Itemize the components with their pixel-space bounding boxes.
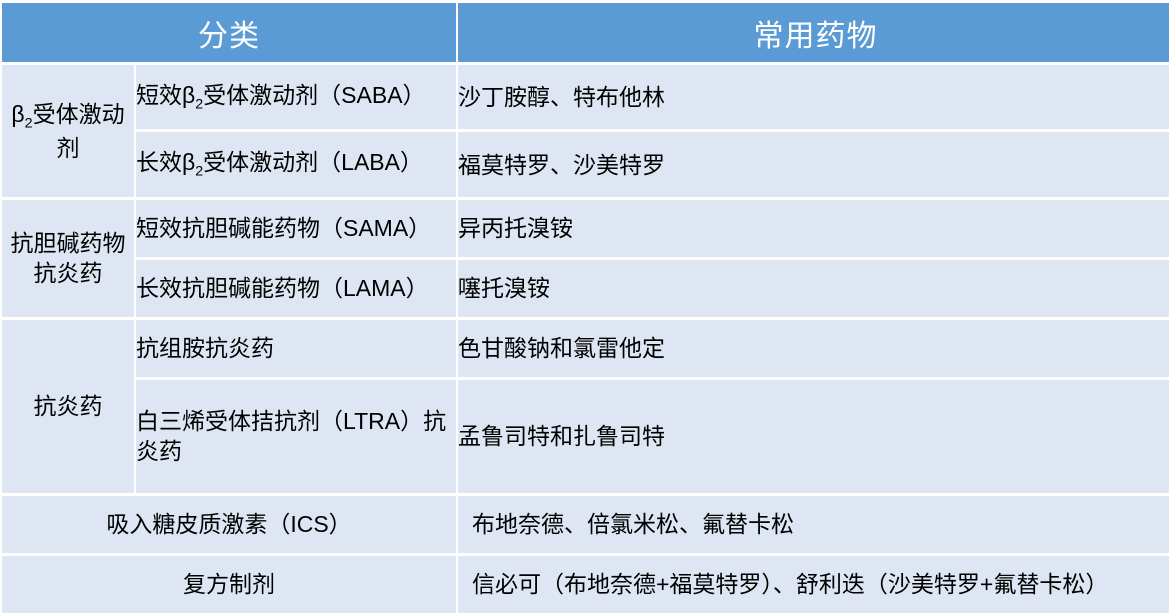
table-row: 白三烯受体拮抗剂（LTRA）抗炎药 孟鲁司特和扎鲁司特 <box>2 380 1169 494</box>
group-label-text: β <box>11 101 24 127</box>
subcategory-text-suffix: 受体激动剂（LABA） <box>203 149 423 175</box>
table-row: 吸入糖皮质激素（ICS） 布地奈德、倍氯米松、氟替卡松 <box>2 496 1169 553</box>
group-label-subscript: 2 <box>25 115 33 131</box>
drug-list-saba: 沙丁胺醇、特布他林 <box>458 65 1169 129</box>
subcategory-text: 长效β <box>136 149 195 175</box>
subcategory-subscript: 2 <box>195 164 203 180</box>
subcategory-sama: 短效抗胆碱能药物（SAMA） <box>136 200 456 257</box>
table-row: β2受体激动剂 短效β2受体激动剂（SABA） 沙丁胺醇、特布他林 <box>2 65 1169 129</box>
drug-list-combination: 信必可（布地奈德+福莫特罗）、舒利迭（沙美特罗+氟替卡松） <box>458 556 1169 613</box>
drug-list-sama: 异丙托溴铵 <box>458 200 1169 257</box>
drug-list-antihistamine: 色甘酸钠和氯雷他定 <box>458 320 1169 377</box>
table-row: 长效抗胆碱能药物（LAMA） 噻托溴铵 <box>2 260 1169 317</box>
subcategory-ltra: 白三烯受体拮抗剂（LTRA）抗炎药 <box>136 380 456 494</box>
subcategory-antihistamine: 抗组胺抗炎药 <box>136 320 456 377</box>
category-combination: 复方制剂 <box>2 556 456 613</box>
header-common-drugs: 常用药物 <box>458 3 1169 62</box>
drug-classification-table: 分类 常用药物 β2受体激动剂 短效β2受体激动剂（SABA） 沙丁胺醇、特布他… <box>0 0 1169 616</box>
drug-list-laba: 福莫特罗、沙美特罗 <box>458 132 1169 196</box>
group-label-anti-inflammatory: 抗炎药 <box>2 320 134 494</box>
table-row: 抗炎药 抗组胺抗炎药 色甘酸钠和氯雷他定 <box>2 320 1169 377</box>
table-row: 抗胆碱药物抗炎药 短效抗胆碱能药物（SAMA） 异丙托溴铵 <box>2 200 1169 257</box>
header-category: 分类 <box>2 3 456 62</box>
table-row: 长效β2受体激动剂（LABA） 福莫特罗、沙美特罗 <box>2 132 1169 196</box>
subcategory-text-suffix: 受体激动剂（SABA） <box>203 82 425 108</box>
drug-list-ltra: 孟鲁司特和扎鲁司特 <box>458 380 1169 494</box>
subcategory-text: 短效β <box>136 82 195 108</box>
drug-list-lama: 噻托溴铵 <box>458 260 1169 317</box>
subcategory-lama: 长效抗胆碱能药物（LAMA） <box>136 260 456 317</box>
subcategory-subscript: 2 <box>195 97 203 113</box>
drug-list-ics: 布地奈德、倍氯米松、氟替卡松 <box>458 496 1169 553</box>
table-header-row: 分类 常用药物 <box>2 3 1169 62</box>
subcategory-saba: 短效β2受体激动剂（SABA） <box>136 65 456 129</box>
category-ics: 吸入糖皮质激素（ICS） <box>2 496 456 553</box>
table-row: 复方制剂 信必可（布地奈德+福莫特罗）、舒利迭（沙美特罗+氟替卡松） <box>2 556 1169 613</box>
subcategory-laba: 长效β2受体激动剂（LABA） <box>136 132 456 196</box>
drug-classification-table-container: 分类 常用药物 β2受体激动剂 短效β2受体激动剂（SABA） 沙丁胺醇、特布他… <box>0 0 1169 616</box>
group-label-beta2-agonist: β2受体激动剂 <box>2 65 134 197</box>
group-label-text-suffix: 受体激动剂 <box>33 101 125 161</box>
group-label-anticholinergic: 抗胆碱药物抗炎药 <box>2 200 134 317</box>
